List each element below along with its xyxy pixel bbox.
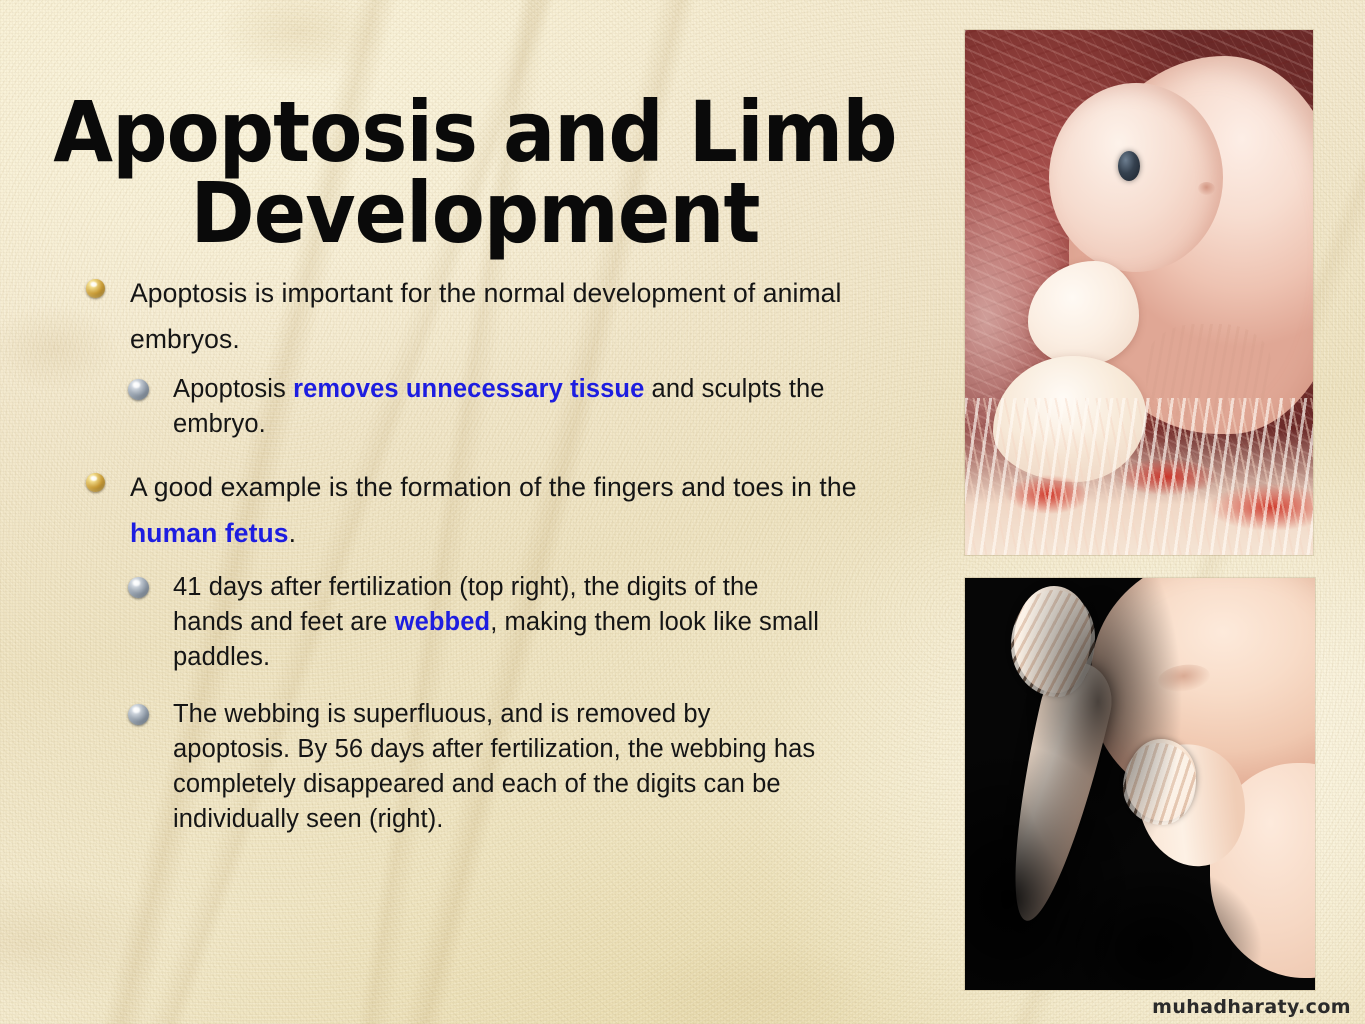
gray-sphere-bullet-icon [128, 577, 149, 598]
bullet-item: Apoptosis removes unnecessary tissue and… [128, 372, 930, 442]
bullet-item: Apoptosis is important for the normal de… [86, 270, 930, 362]
slide-canvas: Apoptosis and Limb Development Apoptosis… [0, 0, 1365, 1024]
gray-sphere-bullet-icon [128, 704, 149, 725]
gold-sphere-bullet-icon [86, 473, 105, 492]
gray-sphere-bullet-icon [128, 379, 149, 400]
slide-title: Apoptosis and Limb Development [38, 92, 912, 253]
human-fetus-56-days-photo [965, 578, 1315, 990]
slide-body-content: Apoptosis is important for the normal de… [0, 270, 930, 851]
embryo-tissue-strands [965, 398, 1313, 556]
bullet-text: A good example is the formation of the f… [130, 464, 865, 556]
embryo-eye [1118, 151, 1140, 181]
human-embryo-41-days-photo [965, 30, 1313, 555]
bullet-text: The webbing is superfluous, and is remov… [173, 697, 828, 837]
bullet-text: Apoptosis removes unnecessary tissue and… [173, 372, 833, 442]
bullet-item: A good example is the formation of the f… [86, 464, 930, 556]
bullet-item: 41 days after fertilization (top right),… [128, 570, 930, 675]
bullet-text: Apoptosis is important for the normal de… [130, 270, 860, 362]
bullet-text: 41 days after fertilization (top right),… [173, 570, 833, 675]
fetus-photo-shadow [965, 578, 1315, 990]
bullet-item: The webbing is superfluous, and is remov… [128, 697, 930, 837]
gold-sphere-bullet-icon [86, 279, 105, 298]
watermark: muhadharaty.com [1152, 996, 1351, 1018]
